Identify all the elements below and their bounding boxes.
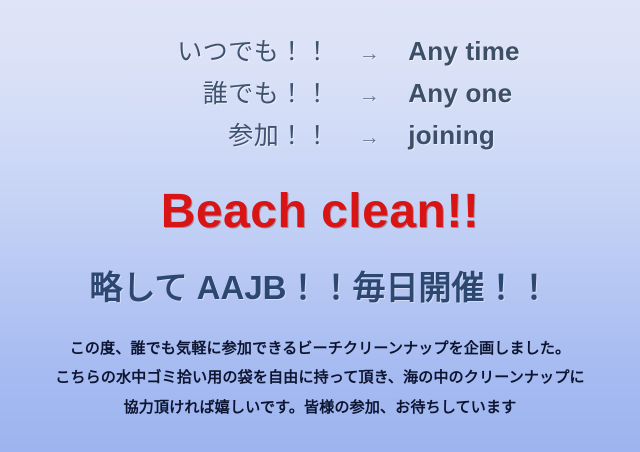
tagline-row: いつでも！！ → Any time	[120, 32, 519, 68]
tagline-japanese: 参加！！	[120, 116, 330, 152]
tagline-english: Any time	[408, 36, 519, 67]
arrow-right-icon: →	[330, 126, 408, 150]
tagline-japanese: いつでも！！	[120, 32, 330, 68]
tagline-japanese: 誰でも！！	[120, 74, 330, 110]
body-line: この度、誰でも気軽に参加できるビーチクリーンナップを企画しました。	[55, 334, 584, 363]
tagline-english: joining	[408, 120, 495, 151]
tagline-english: Any one	[408, 78, 512, 109]
poster-canvas: いつでも！！ → Any time 誰でも！！ → Any one 参加！！ →…	[0, 0, 640, 452]
tagline-row: 参加！！ → joining	[120, 116, 519, 152]
arrow-right-icon: →	[330, 42, 408, 66]
tagline-row: 誰でも！！ → Any one	[120, 74, 519, 110]
tagline-block: いつでも！！ → Any time 誰でも！！ → Any one 参加！！ →…	[120, 32, 519, 152]
body-line: 協力頂ければ嬉しいです。皆様の参加、お待ちしています	[55, 393, 584, 422]
poster-body-copy: この度、誰でも気軽に参加できるビーチクリーンナップを企画しました。 こちらの水中…	[55, 334, 584, 422]
arrow-right-icon: →	[330, 84, 408, 108]
body-line: こちらの水中ゴミ拾い用の袋を自由に持って頂き、海の中のクリーンナップに	[55, 363, 584, 392]
poster-subheadline: 略して AAJB！！毎日開催！！	[89, 271, 550, 304]
poster-headline: Beach clean!!	[161, 188, 480, 236]
